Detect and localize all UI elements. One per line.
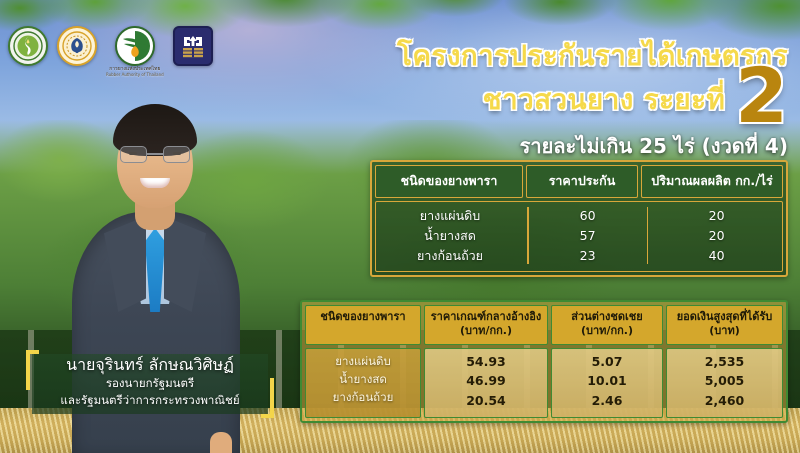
caption-text-group: นายจุรินทร์ ลักษณวิศิษฏ์ รองนายกรัฐมนตรี…	[26, 350, 274, 408]
speaker-role-2: และรัฐมนตรีว่าการกระทรวงพาณิชย์	[26, 392, 274, 409]
table-cell: 5,005	[667, 372, 782, 391]
compensation-payout-table: ชนิดของยางพารา ราคาเกณฑ์กลางอ้างอิง (บาท…	[300, 300, 788, 423]
header-guarantee-price: ราคาประกัน	[526, 165, 638, 198]
phase-number: 2	[735, 65, 788, 127]
poster-title-block: โครงการประกันรายได้เกษตรกร ชาวสวนยาง ระย…	[308, 40, 788, 162]
organization-logo-row: การยางแห่งประเทศไทย Rubber Authority of …	[8, 26, 213, 77]
guarantee-table-header-row: ชนิดของยางพารา ราคาประกัน ปริมาณผลผลิต ก…	[375, 165, 783, 198]
header-rubber-type: ชนิดของยางพารา	[305, 305, 421, 345]
logo-slot-0	[8, 26, 48, 67]
table-cell: น้ำยางสด	[306, 371, 420, 388]
header-rubber-type: ชนิดของยางพารา	[375, 165, 523, 198]
table-cell: 20	[651, 207, 782, 225]
header-compensation: ส่วนต่างชดเชย (บาท/กก.)	[551, 305, 663, 345]
speaker-name-caption: นายจุรินทร์ ลักษณวิศิษฏ์ รองนายกรัฐมนตรี…	[26, 350, 274, 418]
header-max-payout: ยอดเงินสูงสุดที่ได้รับ (บาท)	[666, 305, 783, 345]
header-main: ชนิดของยางพารา	[308, 310, 418, 324]
header-main: ราคาเกณฑ์กลางอ้างอิง	[427, 310, 545, 324]
table-cell: 2,460	[667, 392, 782, 411]
title-line-1: โครงการประกันรายได้เกษตรกร	[308, 40, 788, 71]
guarantee-table-body: ยางแผ่นดิบ น้ำยางสด ยางก้อนถ้วย 60 57 23…	[375, 201, 783, 272]
header-reference-price: ราคาเกณฑ์กลางอ้างอิง (บาท/กก.)	[424, 305, 548, 345]
table-cell: 60	[532, 207, 644, 225]
table-cell: ยางก้อนถ้วย	[306, 389, 420, 406]
table-cell: 2,535	[667, 353, 782, 372]
header-unit: (บาท/กก.)	[427, 324, 545, 338]
table-cell: 57	[532, 227, 644, 245]
column-rubber-type: ยางแผ่นดิบ น้ำยางสด ยางก้อนถ้วย	[305, 348, 421, 418]
column-divider	[527, 207, 529, 264]
infographic-poster: การยางแห่งประเทศไทย Rubber Authority of …	[0, 0, 800, 453]
logo-slot-2: การยางแห่งประเทศไทย Rubber Authority of …	[106, 26, 164, 77]
logo-caption-2: การยางแห่งประเทศไทย Rubber Authority of …	[106, 67, 164, 77]
guarantee-price-table: ชนิดของยางพารา ราคาประกัน ปริมาณผลผลิต ก…	[370, 160, 788, 277]
table-cell: 20.54	[425, 392, 547, 411]
table-cell: น้ำยางสด	[376, 227, 524, 245]
column-divider	[647, 207, 649, 264]
compensation-table-header-row: ชนิดของยางพารา ราคาเกณฑ์กลางอ้างอิง (บาท…	[305, 305, 783, 345]
column-compensation: 5.07 10.01 2.46	[551, 348, 663, 418]
portrait-hand	[210, 432, 232, 453]
column-reference-price: 54.93 46.99 20.54	[424, 348, 548, 418]
speaker-name: นายจุรินทร์ ลักษณวิศิษฏ์	[26, 355, 274, 375]
title-subtitle: รายละไม่เกิน 25 ไร่ (งวดที่ 4)	[308, 130, 788, 162]
header-main: ยอดเงินสูงสุดที่ได้รับ	[669, 310, 780, 324]
table-cell: ยางแผ่นดิบ	[306, 353, 420, 370]
table-cell: 40	[651, 247, 782, 265]
table-cell: 54.93	[425, 353, 547, 372]
logo-slot-1	[57, 26, 97, 67]
header-unit: (บาท)	[669, 324, 780, 338]
logo-slot-3	[173, 26, 213, 67]
table-cell: 2.46	[552, 392, 662, 411]
column-rubber-type: ยางแผ่นดิบ น้ำยางสด ยางก้อนถ้วย	[376, 207, 524, 264]
table-cell: 46.99	[425, 372, 547, 391]
column-max-payout: 2,535 5,005 2,460	[666, 348, 783, 418]
ministry-of-commerce-logo-icon	[173, 26, 213, 66]
table-cell: 20	[651, 227, 782, 245]
government-garuda-seal-icon	[57, 26, 97, 66]
header-main: ส่วนต่างชดเชย	[554, 310, 660, 324]
header-unit: (บาท/กก.)	[554, 324, 660, 338]
ministry-of-agriculture-seal-icon	[8, 26, 48, 66]
eyeglasses-icon	[120, 146, 190, 164]
compensation-table-body: ยางแผ่นดิบ น้ำยางสด ยางก้อนถ้วย 54.93 46…	[305, 348, 783, 418]
speaker-role-1: รองนายกรัฐมนตรี	[26, 375, 274, 392]
column-yield: 20 20 40	[651, 207, 782, 264]
column-guarantee-price: 60 57 23	[532, 207, 644, 264]
logo-caption-en-2: Rubber Authority of Thailand	[106, 73, 164, 78]
header-yield-per-rai: ปริมาณผลผลิต กก./ไร่	[641, 165, 783, 198]
table-cell: 23	[532, 247, 644, 265]
title-line-2: ชาวสวนยาง ระยะที่	[483, 84, 725, 115]
table-cell: ยางแผ่นดิบ	[376, 207, 524, 225]
rubber-authority-logo-icon	[115, 26, 155, 66]
table-cell: 10.01	[552, 372, 662, 391]
table-cell: ยางก้อนถ้วย	[376, 247, 524, 265]
title-line-2-row: ชาวสวนยาง ระยะที่ 2	[308, 71, 788, 127]
table-cell: 5.07	[552, 353, 662, 372]
